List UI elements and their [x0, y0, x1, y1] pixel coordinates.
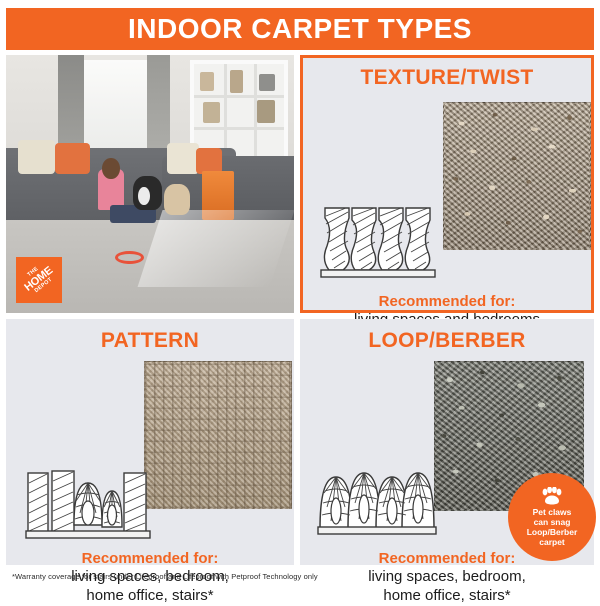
rec-text-line2: home office, stairs* [6, 587, 294, 605]
photo-shelf-bar [194, 127, 284, 130]
panel-loop-berber: LOOP/BERBER [300, 319, 594, 565]
photo-sunlight [137, 210, 294, 287]
home-depot-logo: THE HOME DEPOT [16, 257, 62, 303]
rec-text-line2: home office, stairs* [300, 587, 594, 605]
carpet-swatch-texture-twist [443, 102, 591, 250]
photo-pillow [55, 143, 90, 174]
photo-shelf-jar [200, 72, 214, 91]
photo-shelf-jar [259, 74, 275, 91]
rec-label: Recommended for: [303, 293, 591, 310]
photo-dog-tan [164, 184, 190, 215]
fiber-diagram-loop-berber [316, 463, 438, 545]
photo-dog-marking [138, 187, 150, 205]
photo-pillow [167, 143, 199, 174]
rec-label: Recommended for: [6, 550, 294, 567]
pet-badge-line1: Pet claws [533, 507, 572, 517]
photo-pillow [18, 140, 55, 174]
pet-badge-line4: carpet [539, 537, 565, 547]
photo-shelf-divider [224, 64, 227, 159]
fiber-diagram-texture-twist [319, 202, 439, 284]
pet-claws-badge: Pet claws can snag Loop/Berber carpet [508, 473, 596, 561]
header-bar: INDOOR CARPET TYPES [6, 8, 594, 50]
pet-badge-line3: Loop/Berber [527, 527, 578, 537]
page-title: INDOOR CARPET TYPES [128, 13, 472, 45]
fiber-diagram-pattern [24, 465, 152, 547]
rec-label: Recommended for: [300, 550, 594, 567]
panel-title-texture-twist: TEXTURE/TWIST [303, 66, 591, 90]
panel-texture-twist: TEXTURE/TWIST [300, 55, 594, 313]
photo-person-head [102, 158, 119, 179]
panel-title-pattern: PATTERN [6, 329, 294, 353]
photo-pillow [196, 148, 222, 174]
footer-disclaimer: *Warranty coverage for stairs under Life… [12, 572, 572, 581]
photo-shelf-basket [257, 100, 275, 123]
carpet-swatch-pattern [144, 361, 292, 509]
room-photo-panel: THE HOME DEPOT [6, 55, 294, 313]
pet-badge-line2: can snag [534, 517, 571, 527]
photo-shelf-jar [203, 102, 219, 123]
paw-icon [541, 487, 563, 505]
panel-title-loop-berber: LOOP/BERBER [300, 329, 594, 353]
panel-pattern: PATTERN [6, 319, 294, 565]
photo-shelf-divider [254, 64, 257, 159]
photo-shelf-bar [194, 95, 284, 98]
photo-shelf-jar [230, 70, 243, 93]
photo-dog-toy [115, 251, 144, 264]
infographic-root: INDOOR CARPET TYPES [0, 0, 600, 600]
